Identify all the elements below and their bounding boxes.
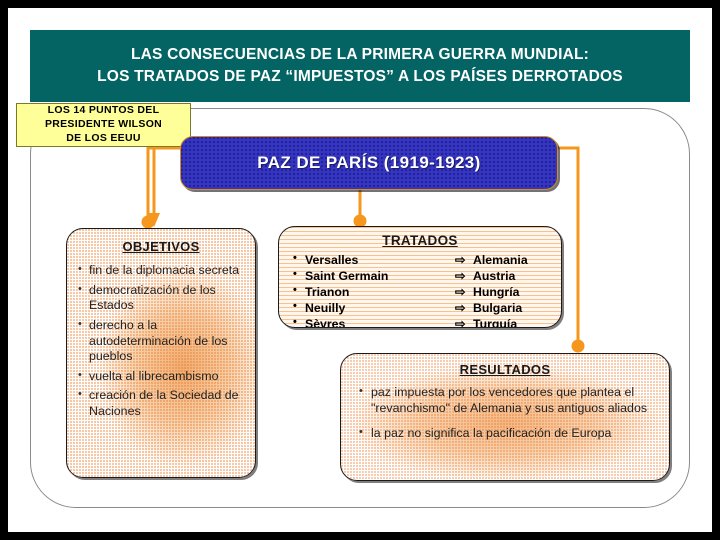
tratados-content: TRATADOS Versalles ⇨ Alemania Saint Germ… [279, 227, 561, 328]
wilson-box-text: LOS 14 PUNTOS DEL PRESIDENTE WILSON DE L… [45, 104, 162, 146]
treaty-name: Neuilly [289, 301, 455, 316]
treaty-country: Alemania [473, 253, 551, 268]
table-row: Trianon ⇨ Hungría [289, 285, 551, 300]
paz-de-paris-node[interactable]: PAZ DE PARÍS (1919-1923) [180, 136, 558, 190]
arrow-right-icon: ⇨ [455, 301, 473, 316]
treaty-country: Austria [473, 269, 551, 284]
tratados-list: Versalles ⇨ Alemania Saint Germain ⇨ Aus… [289, 253, 551, 328]
arrow-right-icon: ⇨ [455, 269, 473, 284]
tratados-title: TRATADOS [289, 233, 551, 248]
list-item: derecho a la autodeterminación de los pu… [89, 318, 245, 365]
objetivos-box[interactable]: OBJETIVOS fin de la diplomacia secreta d… [66, 228, 256, 478]
wilson-line-2: PRESIDENTE WILSON [45, 118, 162, 132]
treaty-country: Bulgaria [473, 301, 551, 316]
list-item: creación de la Sociedad de Naciones [89, 388, 245, 419]
list-item: democratización de los Estados [89, 283, 245, 314]
table-row: Neuilly ⇨ Bulgaria [289, 301, 551, 316]
wilson-line-1: LOS 14 PUNTOS DEL [45, 104, 162, 118]
connector-dot-objetivos [142, 216, 155, 229]
wilson-line-3: DE LOS EEUU [45, 132, 162, 146]
list-item: la paz no significa la pacificación de E… [371, 426, 655, 442]
table-row: Sèvres ⇨ Turquía [289, 317, 551, 328]
objetivos-title: OBJETIVOS [75, 239, 247, 254]
resultados-box[interactable]: RESULTADOS paz impuesta por los vencedor… [340, 353, 670, 481]
wilson-fourteen-points-box[interactable]: LOS 14 PUNTOS DEL PRESIDENTE WILSON DE L… [16, 103, 191, 147]
list-item: paz impuesta por los vencedores que plan… [371, 385, 655, 417]
treaty-country: Turquía [473, 317, 551, 328]
treaty-name: Versalles [289, 253, 455, 268]
arrow-right-icon: ⇨ [455, 317, 473, 328]
paz-de-paris-label: PAZ DE PARÍS (1919-1923) [257, 153, 480, 173]
list-item: fin de la diplomacia secreta [89, 263, 245, 279]
resultados-title: RESULTADOS [355, 362, 655, 377]
resultados-list: paz impuesta por los vencedores que plan… [355, 385, 655, 441]
connector-dot-resultados [572, 340, 585, 353]
arrow-right-icon: ⇨ [455, 253, 473, 268]
treaty-country: Hungría [473, 285, 551, 300]
table-row: Versalles ⇨ Alemania [289, 253, 551, 268]
objetivos-list: fin de la diplomacia secreta democratiza… [75, 263, 247, 420]
tratados-box[interactable]: TRATADOS Versalles ⇨ Alemania Saint Germ… [278, 226, 562, 328]
objetivos-content: OBJETIVOS fin de la diplomacia secreta d… [67, 229, 255, 420]
treaty-name: Trianon [289, 285, 455, 300]
arrow-right-icon: ⇨ [455, 285, 473, 300]
treaty-name: Sèvres [289, 317, 455, 328]
treaty-name: Saint Germain [289, 269, 455, 284]
table-row: Saint Germain ⇨ Austria [289, 269, 551, 284]
slide-canvas: LAS CONSECUENCIAS DE LA PRIMERA GUERRA M… [8, 8, 712, 532]
resultados-content: RESULTADOS paz impuesta por los vencedor… [341, 354, 669, 441]
list-item: vuelta al librecambismo [89, 369, 245, 385]
